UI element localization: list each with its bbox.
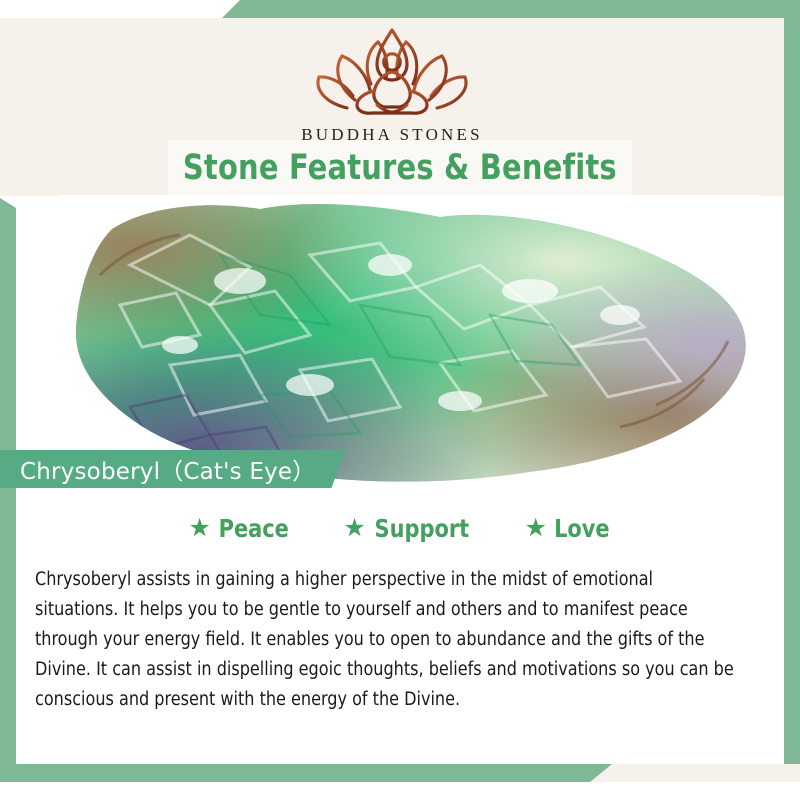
benefit-label: Love bbox=[554, 514, 610, 543]
frame-bottom-strip bbox=[0, 764, 612, 782]
stone-name-banner: Chrysoberyl（Cat's Eye） bbox=[0, 450, 345, 488]
content-panel: ★ Peace ★ Support ★ Love Chrysoberyl ass… bbox=[16, 492, 784, 746]
title-banner: Stone Features & Benefits bbox=[168, 140, 632, 196]
frame-bottom-cream-right bbox=[588, 764, 800, 782]
benefit-item: ★ Peace bbox=[188, 514, 291, 543]
lotus-meditation-icon bbox=[0, 22, 784, 123]
benefit-item: ★ Support bbox=[343, 514, 472, 543]
star-icon: ★ bbox=[524, 516, 546, 541]
benefit-label: Peace bbox=[218, 514, 288, 543]
benefit-item: ★ Love bbox=[524, 514, 611, 543]
poster-root: BUDDHA STONES Stone Features & Benefits bbox=[0, 0, 800, 800]
frame-top-strip bbox=[222, 0, 800, 18]
brand-block: BUDDHA STONES bbox=[0, 22, 784, 145]
stone-specimen-image bbox=[60, 195, 760, 492]
benefits-row: ★ Peace ★ Support ★ Love bbox=[16, 492, 784, 543]
frame-right-bar bbox=[784, 0, 800, 764]
stone-description: Chrysoberyl assists in gaining a higher … bbox=[35, 565, 739, 715]
star-icon: ★ bbox=[188, 516, 210, 541]
stone-name-label: Chrysoberyl（Cat's Eye） bbox=[20, 452, 315, 486]
page-title: Stone Features & Benefits bbox=[183, 148, 617, 188]
star-icon: ★ bbox=[343, 516, 365, 541]
benefit-label: Support bbox=[374, 514, 469, 543]
